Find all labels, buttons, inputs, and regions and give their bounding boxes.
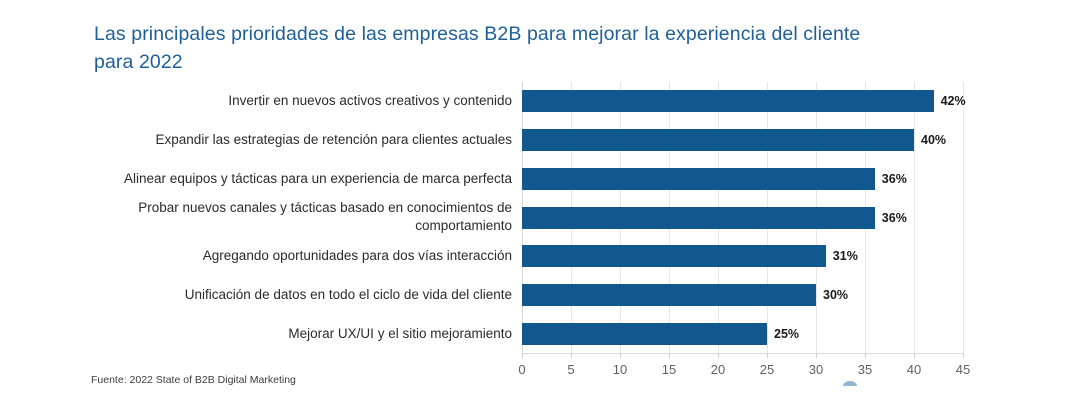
x-tick-label: 5 bbox=[567, 362, 574, 377]
x-tick-label: 35 bbox=[858, 362, 872, 377]
x-tick-label: 40 bbox=[907, 362, 921, 377]
tick-mark-0 bbox=[522, 353, 523, 358]
bar[interactable] bbox=[522, 207, 875, 229]
tick-mark-15 bbox=[669, 353, 670, 358]
category-label: Invertir en nuevos activos creativos y c… bbox=[96, 82, 512, 121]
x-axis-line bbox=[522, 353, 963, 354]
category-label: Agregando oportunidades para dos vías in… bbox=[96, 237, 512, 276]
tick-mark-20 bbox=[718, 353, 719, 358]
category-label: Alinear equipos y tácticas para un exper… bbox=[96, 159, 512, 198]
category-label: Probar nuevos canales y tácticas basado … bbox=[96, 198, 512, 237]
bar-value-label: 36% bbox=[882, 168, 907, 190]
plot-area: 42%40%36%36%31%30%25% 051015202530354045 bbox=[522, 82, 963, 353]
bar-value-label: 25% bbox=[774, 323, 799, 345]
bar[interactable] bbox=[522, 129, 914, 151]
tick-mark-25 bbox=[767, 353, 768, 358]
bar[interactable] bbox=[522, 168, 875, 190]
category-label: Expandir las estrategias de retención pa… bbox=[96, 121, 512, 160]
bar[interactable] bbox=[522, 323, 767, 345]
tick-mark-30 bbox=[816, 353, 817, 358]
bar-value-label: 30% bbox=[823, 284, 848, 306]
bar-value-label: 42% bbox=[941, 90, 966, 112]
x-tick-label: 15 bbox=[662, 362, 676, 377]
x-tick-label: 20 bbox=[711, 362, 725, 377]
bar-value-label: 36% bbox=[882, 207, 907, 229]
bar[interactable] bbox=[522, 284, 816, 306]
source-note: Fuente: 2022 State of B2B Digital Market… bbox=[91, 374, 296, 386]
tick-mark-40 bbox=[914, 353, 915, 358]
x-tick-label: 10 bbox=[613, 362, 627, 377]
tick-mark-5 bbox=[571, 353, 572, 358]
tick-mark-10 bbox=[620, 353, 621, 358]
tick-mark-35 bbox=[865, 353, 866, 358]
x-tick-label: 25 bbox=[760, 362, 774, 377]
x-tick-label: 0 bbox=[518, 362, 525, 377]
category-label: Unificación de datos en todo el ciclo de… bbox=[96, 276, 512, 315]
gridline-45 bbox=[963, 82, 964, 353]
x-tick-label: 30 bbox=[809, 362, 823, 377]
bar-chart: Las principales prioridades de las empre… bbox=[0, 0, 1080, 400]
decorative-arc-artifact bbox=[843, 381, 857, 386]
x-tick-label: 45 bbox=[956, 362, 970, 377]
bar-value-label: 40% bbox=[921, 129, 946, 151]
bars-layer: 42%40%36%36%31%30%25% bbox=[522, 82, 963, 353]
bar-value-label: 31% bbox=[833, 245, 858, 267]
category-axis-labels: Invertir en nuevos activos creativos y c… bbox=[96, 82, 512, 353]
tick-mark-45 bbox=[963, 353, 964, 358]
bar[interactable] bbox=[522, 245, 826, 267]
bar[interactable] bbox=[522, 90, 934, 112]
category-label: Mejorar UX/UI y el sitio mejoramiento bbox=[96, 314, 512, 353]
chart-title: Las principales prioridades de las empre… bbox=[94, 20, 884, 76]
